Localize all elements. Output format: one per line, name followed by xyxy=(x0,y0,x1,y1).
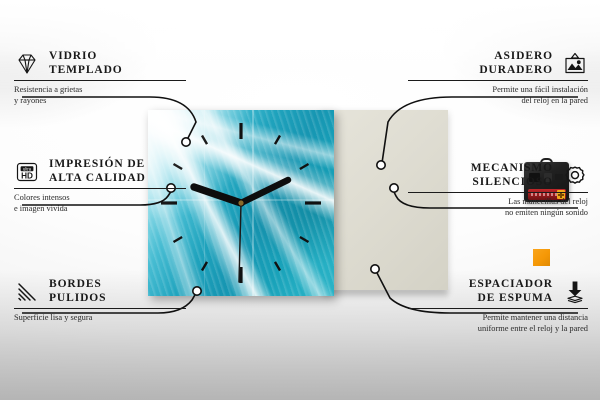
feature-impresion-alta-calidad: ultra HD IMPRESIÓN DE ALTA CALIDAD Color… xyxy=(14,158,186,214)
feature-divider xyxy=(14,308,186,309)
feature-description: Las manecillas del reloj no emiten ningú… xyxy=(408,197,588,218)
feature-header: ultra HD IMPRESIÓN DE ALTA CALIDAD xyxy=(14,158,186,185)
feature-divider xyxy=(408,192,588,193)
feature-description: Resistencia a grietas y rayones xyxy=(14,85,186,106)
spacer-arrow-icon xyxy=(562,280,588,304)
feature-divider xyxy=(14,80,186,81)
connector-asidero xyxy=(382,97,578,163)
feature-description: Colores intensos e imagen vívida xyxy=(14,193,186,214)
gear-icon xyxy=(562,164,588,188)
feature-title: MECANISMO SILENCIOSO xyxy=(471,162,553,189)
feature-title: VIDRIO TEMPLADO xyxy=(49,50,123,77)
infographic-canvas: VIDRIO TEMPLADO Resistencia a grietas y … xyxy=(0,0,600,400)
feature-header: MECANISMO SILENCIOSO xyxy=(408,162,588,189)
feature-title: BORDES PULIDOS xyxy=(49,278,106,305)
ultra-hd-main-text: HD xyxy=(21,171,33,180)
feature-header: BORDES PULIDOS xyxy=(14,278,186,305)
connector-dot-espaciador xyxy=(371,265,379,273)
feature-header: ASIDERO DURADERO xyxy=(408,50,588,77)
connector-dot-bordes xyxy=(193,287,201,295)
feature-vidrio-templado: VIDRIO TEMPLADO Resistencia a grietas y … xyxy=(14,50,186,106)
feature-mecanismo-silencioso: MECANISMO SILENCIOSO Las manecillas del … xyxy=(408,162,588,218)
connector-dot-mecanismo xyxy=(390,184,398,192)
feature-description: Superficie lisa y segura xyxy=(14,313,186,323)
feature-description: Permite una fácil instalación del reloj … xyxy=(408,85,588,106)
feature-divider xyxy=(408,80,588,81)
feature-title: IMPRESIÓN DE ALTA CALIDAD xyxy=(49,158,146,185)
diamond-icon xyxy=(14,52,40,76)
feature-asidero-duradero: ASIDERO DURADERO Permite una fácil insta… xyxy=(408,50,588,106)
connector-dot-vidrio xyxy=(182,138,190,146)
wall-hanging-frame-icon xyxy=(562,52,588,76)
feature-title: ESPACIADOR DE ESPUMA xyxy=(469,278,553,305)
feature-header: ESPACIADOR DE ESPUMA xyxy=(408,278,588,305)
feature-title: ASIDERO DURADERO xyxy=(479,50,553,77)
feature-espaciador-de-espuma: ESPACIADOR DE ESPUMA Permite mantener un… xyxy=(408,278,588,334)
feature-description: Permite mantener una distancia uniforme … xyxy=(408,313,588,334)
feature-header: VIDRIO TEMPLADO xyxy=(14,50,186,77)
connector-dot-asidero xyxy=(377,161,385,169)
feature-bordes-pulidos: BORDES PULIDOS Superficie lisa y segura xyxy=(14,278,186,324)
feature-divider xyxy=(14,188,186,189)
polished-edges-icon xyxy=(14,280,40,304)
ultra-hd-icon: ultra HD xyxy=(14,160,40,184)
feature-divider xyxy=(408,308,588,309)
